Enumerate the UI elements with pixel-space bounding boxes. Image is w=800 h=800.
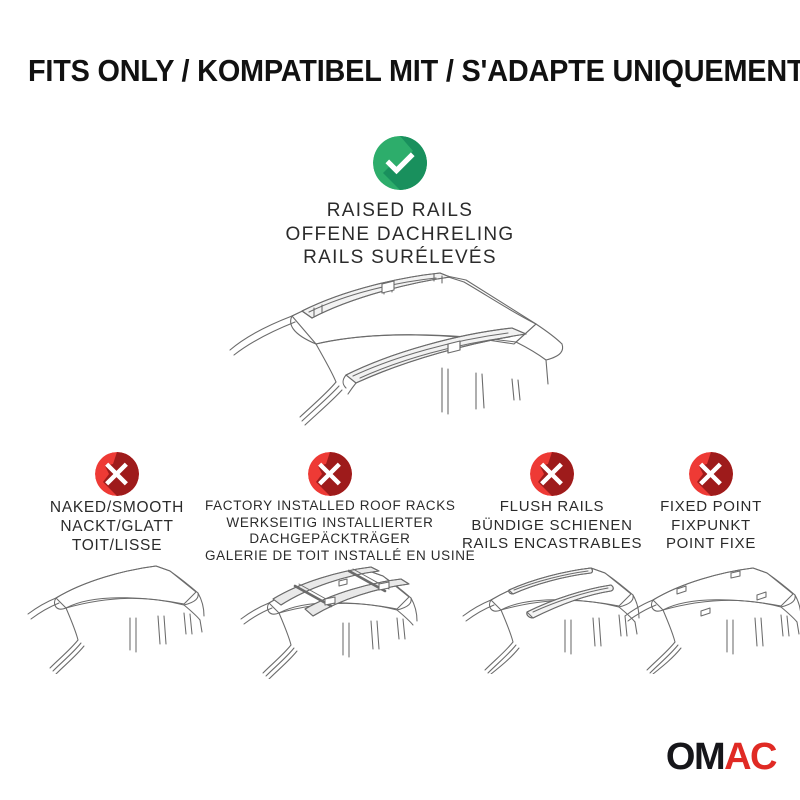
cross-circle-icon xyxy=(95,452,139,496)
infographic-canvas: FITS ONLY / KOMPATIBEL MIT / S'ADAPTE UN… xyxy=(0,0,800,800)
option-label-line-2: FIXPUNKT xyxy=(628,517,794,536)
option-label-flush-rails: FLUSH RAILS BÜNDIGE SCHIENEN RAILS ENCAS… xyxy=(462,498,642,554)
cross-circle-icon xyxy=(689,452,733,496)
cross-circle-icon xyxy=(530,452,574,496)
car-roof-with-factory-crossbars-illustration xyxy=(229,559,431,679)
option-label-line-3: RAILS ENCASTRABLES xyxy=(462,535,642,554)
car-roof-with-raised-rails-illustration xyxy=(196,272,616,447)
option-label-naked-smooth: NAKED/SMOOTH NACKT/GLATT TOIT/LISSE xyxy=(27,498,207,555)
page-title: FITS ONLY / KOMPATIBEL MIT / S'ADAPTE UN… xyxy=(28,53,772,89)
option-label-line-1: NAKED/SMOOTH xyxy=(27,498,207,517)
omac-logo-part-om: OM xyxy=(666,736,724,778)
option-label-factory-roof-racks: FACTORY INSTALLED ROOF RACKS WERKSEITIG … xyxy=(205,498,455,564)
option-label-fixed-point: FIXED POINT FIXPUNKT POINT FIXE xyxy=(628,498,794,554)
option-label-line-2: BÜNDIGE SCHIENEN xyxy=(462,517,642,536)
option-label-line-3: DACHGEPÄCKTRÄGER xyxy=(205,531,455,548)
cross-circle-icon xyxy=(308,452,352,496)
car-roof-bare-illustration xyxy=(20,564,214,674)
option-label-line-1: FIXED POINT xyxy=(628,498,794,517)
car-roof-with-flush-rails-illustration xyxy=(457,564,647,674)
option-label-line-3: POINT FIXE xyxy=(628,535,794,554)
compatible-label-line-1: RAISED RAILS xyxy=(150,199,650,223)
omac-logo: OMAC xyxy=(666,738,776,776)
option-label-line-2: NACKT/GLATT xyxy=(27,517,207,536)
omac-logo-part-ac: AC xyxy=(724,736,776,778)
option-label-line-3: TOIT/LISSE xyxy=(27,536,207,555)
option-label-line-1: FLUSH RAILS xyxy=(462,498,642,517)
check-circle-icon xyxy=(373,136,427,190)
compatible-label: RAISED RAILS OFFENE DACHRELING RAILS SUR… xyxy=(150,199,650,270)
option-label-line-2: WERKSEITIG INSTALLIERTER xyxy=(205,515,455,532)
car-roof-with-fixed-points-illustration xyxy=(621,564,800,674)
compatible-label-line-2: OFFENE DACHRELING xyxy=(150,223,650,247)
option-label-line-1: FACTORY INSTALLED ROOF RACKS xyxy=(205,498,455,515)
compatible-label-line-3: RAILS SURÉLEVÉS xyxy=(150,246,650,270)
